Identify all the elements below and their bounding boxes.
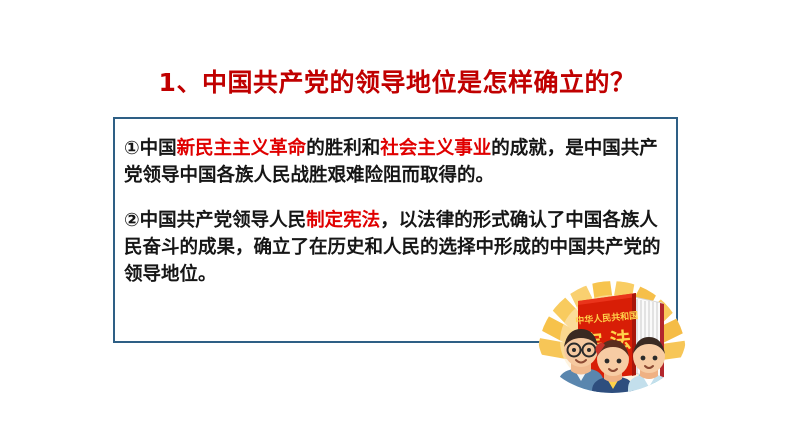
paragraph-1-seg-2: 的胜利和 <box>306 138 380 159</box>
paragraph-1: ①中国新民主主义革命的胜利和社会主义事业的成就，是中国共产党领导中国各族人民战胜… <box>124 135 670 189</box>
paragraph-1-highlight-1: 新民主主义革命 <box>177 138 307 159</box>
paragraph-2-seg-0: ②中国共产党领导人民 <box>124 210 306 231</box>
slide-canvas: 1、中国共产党的领导地位是怎样确立的？ ①中国新民主主义革命的胜利和社会主义事业… <box>0 0 794 447</box>
paragraph-2-highlight-1: 制定宪法 <box>306 210 380 231</box>
paragraph-1-highlight-3: 社会主义事业 <box>380 138 491 159</box>
paragraph-2: ②中国共产党领导人民制定宪法，以法律的形式确认了中国各族人民奋斗的成果，确立了在… <box>124 207 670 288</box>
constitution-illustration-graphic: 中华人民共和国 宪 法 <box>538 281 686 393</box>
page-title: 1、中国共产党的领导地位是怎样确立的？ <box>0 66 794 100</box>
paragraph-1-seg-0: ①中国 <box>124 138 177 159</box>
constitution-illustration: 中华人民共和国 宪 法 <box>538 281 686 393</box>
